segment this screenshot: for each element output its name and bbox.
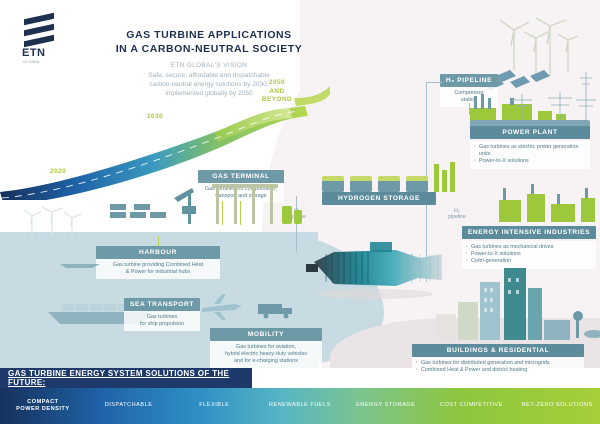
- callout-buildings-bullet-2: Combined Heat & Power and district heati…: [416, 367, 580, 374]
- mobility-illustration: [196, 290, 306, 324]
- roadmap-year-2020: 2020: [50, 168, 66, 175]
- banner-item-renewable-fuels: RENEWABLE FUELS: [257, 402, 343, 410]
- turbine-body: [314, 250, 442, 286]
- harbour-container-icon: [110, 204, 166, 218]
- connector-harbour: [158, 236, 159, 246]
- callout-buildings-bullet-1: Gas turbines for distributed generation …: [416, 360, 580, 367]
- banner-heading-bar: GAS TURBINE ENERGY SYSTEM SOLUTIONS OF T…: [0, 368, 252, 388]
- banner-item-net-zero-solutions: NET-ZERO SOLUTIONS: [514, 402, 600, 410]
- callout-power-plant-body: Gas turbines as electric power generatio…: [470, 141, 590, 169]
- offshore-wind-illustration: [20, 206, 100, 240]
- callout-mobility-title: MOBILITY: [210, 328, 322, 341]
- city-illustration: [428, 258, 600, 344]
- harbour-gantry-icon: [212, 184, 278, 224]
- banner-item-flexible: FLEXIBLE: [171, 402, 257, 410]
- label-h2-pipeline-right-line1: H₂: [454, 208, 460, 214]
- turbine-intake: [306, 264, 318, 272]
- callout-hydrogen-storage-title: HYDROGEN STORAGE: [322, 192, 436, 205]
- sailing-vessel-illustration: [56, 246, 116, 268]
- callout-power-plant-bullet-2: Power-to-X solutions: [474, 158, 586, 165]
- vision-line-2: carbon-neutral energy solutions by 2030,: [149, 81, 269, 88]
- industry-building-icon: [499, 194, 595, 222]
- callout-energy-intensive-bullet-1: Gas turbines as mechanical drives: [466, 244, 592, 251]
- logo-bar-icon: [24, 24, 54, 36]
- ev-charger-icon: [573, 311, 600, 338]
- vision-line-1: Safe, secure, affordable and dispatchabl…: [148, 72, 270, 79]
- infographic-canvas: 2020 2030 2050 AND BEYOND ETN GLOBAL GAS…: [0, 0, 600, 424]
- callout-power-plant-bullet-1: Gas turbines as electric power generatio…: [474, 144, 586, 158]
- connector-h2-pipeline-horizontal: [426, 82, 442, 83]
- ship-container-icon: [62, 304, 130, 311]
- banner-item-compact-power-density: COMPACT POWER DENSITY: [0, 399, 86, 414]
- truck-icon: [258, 304, 292, 318]
- logo-subtext: GLOBAL: [23, 59, 41, 64]
- storage-column-icon: [434, 162, 455, 192]
- callout-sea-transport-line1: Gas turbines: [147, 314, 178, 320]
- banner-gradient-bar: COMPACT POWER DENSITY DISPATCHABLE FLEXI…: [0, 388, 600, 424]
- turbine-shadow: [317, 289, 433, 299]
- callout-sea-transport-line2: for ship propulsion: [140, 321, 184, 327]
- vision-heading: ETN GLOBAL'S VISION: [84, 62, 334, 69]
- callout-sea-transport-body: Gas turbines for ship propulsion: [124, 311, 200, 331]
- storage-tank-top-icon: [322, 176, 428, 181]
- page-title: GAS TURBINE APPLICATIONS IN A CARBON-NEU…: [84, 28, 334, 56]
- label-h2-pipeline-right-line2: pipeline: [448, 214, 466, 220]
- callout-power-plant-title: POWER PLANT: [470, 126, 590, 139]
- callout-sea-transport-title: SEA TRANSPORT: [124, 298, 200, 311]
- etn-logo: ETN GLOBAL: [18, 14, 66, 66]
- logo-bar-icon: [24, 13, 54, 25]
- harbour-illustration: [96, 180, 306, 226]
- callout-mobility-line1: Gas turbines for aviation,: [236, 344, 296, 350]
- page-title-line2: IN A CARBON-NEUTRAL SOCIETY: [116, 43, 303, 55]
- renewables-illustration: [480, 8, 600, 98]
- callout-mobility-line2: hybrid electric heavy-duty vehicles: [225, 351, 307, 357]
- logo-bar-icon: [24, 35, 54, 47]
- banner-heading-text: GAS TURBINE ENERGY SYSTEM SOLUTIONS OF T…: [0, 369, 252, 387]
- storage-tank-icon: [322, 180, 428, 192]
- callout-buildings-title: BUILDINGS & RESIDENTIAL: [412, 344, 584, 357]
- page-title-line1: GAS TURBINE APPLICATIONS: [126, 29, 291, 41]
- callout-harbour-line2: & Power for industrial hubs: [126, 269, 190, 275]
- callout-mobility-body: Gas turbines for aviation, hybrid electr…: [210, 341, 322, 369]
- logo-wordmark: ETN: [22, 47, 46, 59]
- harbour-tank-icon: [282, 206, 302, 224]
- banner-item-compact-line1: COMPACT: [27, 399, 58, 405]
- banner-item-compact-line2: POWER DENSITY: [16, 406, 69, 412]
- wind-turbine-icon: [500, 18, 578, 76]
- callout-harbour-line1: Gas turbine providing Combined Heat: [113, 262, 203, 268]
- banner-item-energy-storage: ENERGY STORAGE: [343, 402, 429, 410]
- industry-illustration: [495, 180, 600, 226]
- harbour-crane-icon: [174, 188, 196, 224]
- roadmap-year-2030: 2030: [147, 113, 163, 120]
- turbine-combustor: [370, 242, 392, 252]
- callout-h2-pipeline-title: H₂ PIPELINE: [440, 74, 498, 87]
- city-building-icon: [436, 268, 570, 340]
- callout-mobility-line3: and for e-charging stations: [234, 358, 298, 364]
- airplane-icon: [202, 294, 242, 320]
- wind-turbine-icon: [24, 207, 81, 236]
- callout-energy-intensive-title: ENERGY INTENSIVE INDUSTRIES: [462, 226, 596, 239]
- vision-text: Safe, secure, affordable and dispatchabl…: [74, 71, 344, 99]
- banner-item-dispatchable: DISPATCHABLE: [86, 402, 172, 410]
- vision-line-3: implemented globally by 2050: [165, 90, 252, 97]
- label-h2-pipeline-right: H₂ pipeline: [444, 208, 470, 221]
- callout-buildings-body: Gas turbines for distributed generation …: [412, 357, 584, 377]
- banner-item-cost-competitive: COST COMPETITIVE: [429, 402, 515, 410]
